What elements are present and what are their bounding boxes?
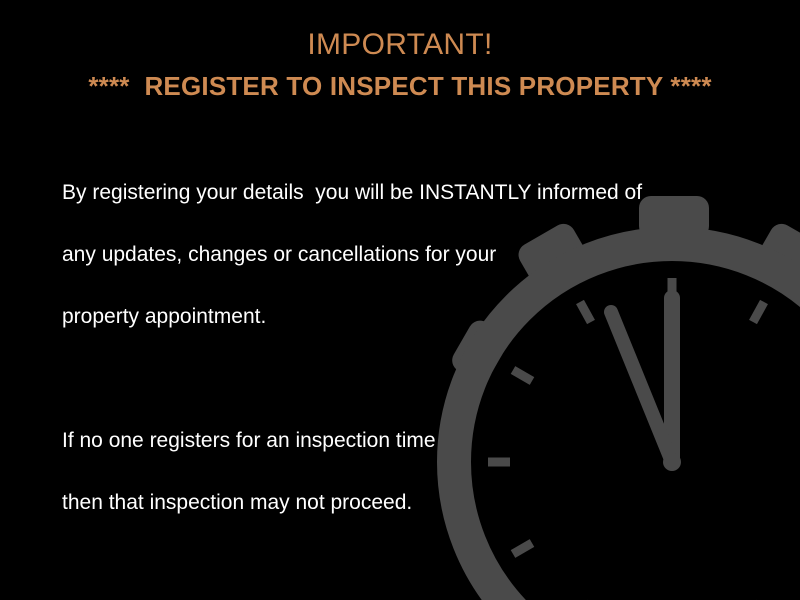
page-subtitle: **** REGISTER TO INSPECT THIS PROPERTY *… bbox=[0, 68, 800, 104]
paragraph-1-line-1: By registering your details you will be … bbox=[62, 177, 722, 208]
heading-block: IMPORTANT! **** REGISTER TO INSPECT THIS… bbox=[0, 26, 800, 104]
paragraph-no-registration: If no one registers for an inspection ti… bbox=[62, 394, 722, 549]
page-title: IMPORTANT! bbox=[0, 26, 800, 64]
paragraph-1-line-3: property appointment. bbox=[62, 301, 722, 332]
body-copy-block: By registering your details you will be … bbox=[62, 146, 722, 600]
paragraph-spacer-1 bbox=[62, 363, 722, 394]
paragraph-2-line-2: then that inspection may not proceed. bbox=[62, 487, 722, 518]
slide-canvas: IMPORTANT! **** REGISTER TO INSPECT THIS… bbox=[0, 0, 800, 600]
call-to-action-block: DON’T MISS OUT Book for an inspection ti… bbox=[62, 575, 722, 600]
paragraph-1-line-2: any updates, changes or cancellations fo… bbox=[62, 239, 722, 270]
paragraph-2-line-1: If no one registers for an inspection ti… bbox=[62, 425, 722, 456]
paragraph-spacer-2 bbox=[62, 549, 722, 575]
paragraph-registering-details: By registering your details you will be … bbox=[62, 146, 722, 363]
